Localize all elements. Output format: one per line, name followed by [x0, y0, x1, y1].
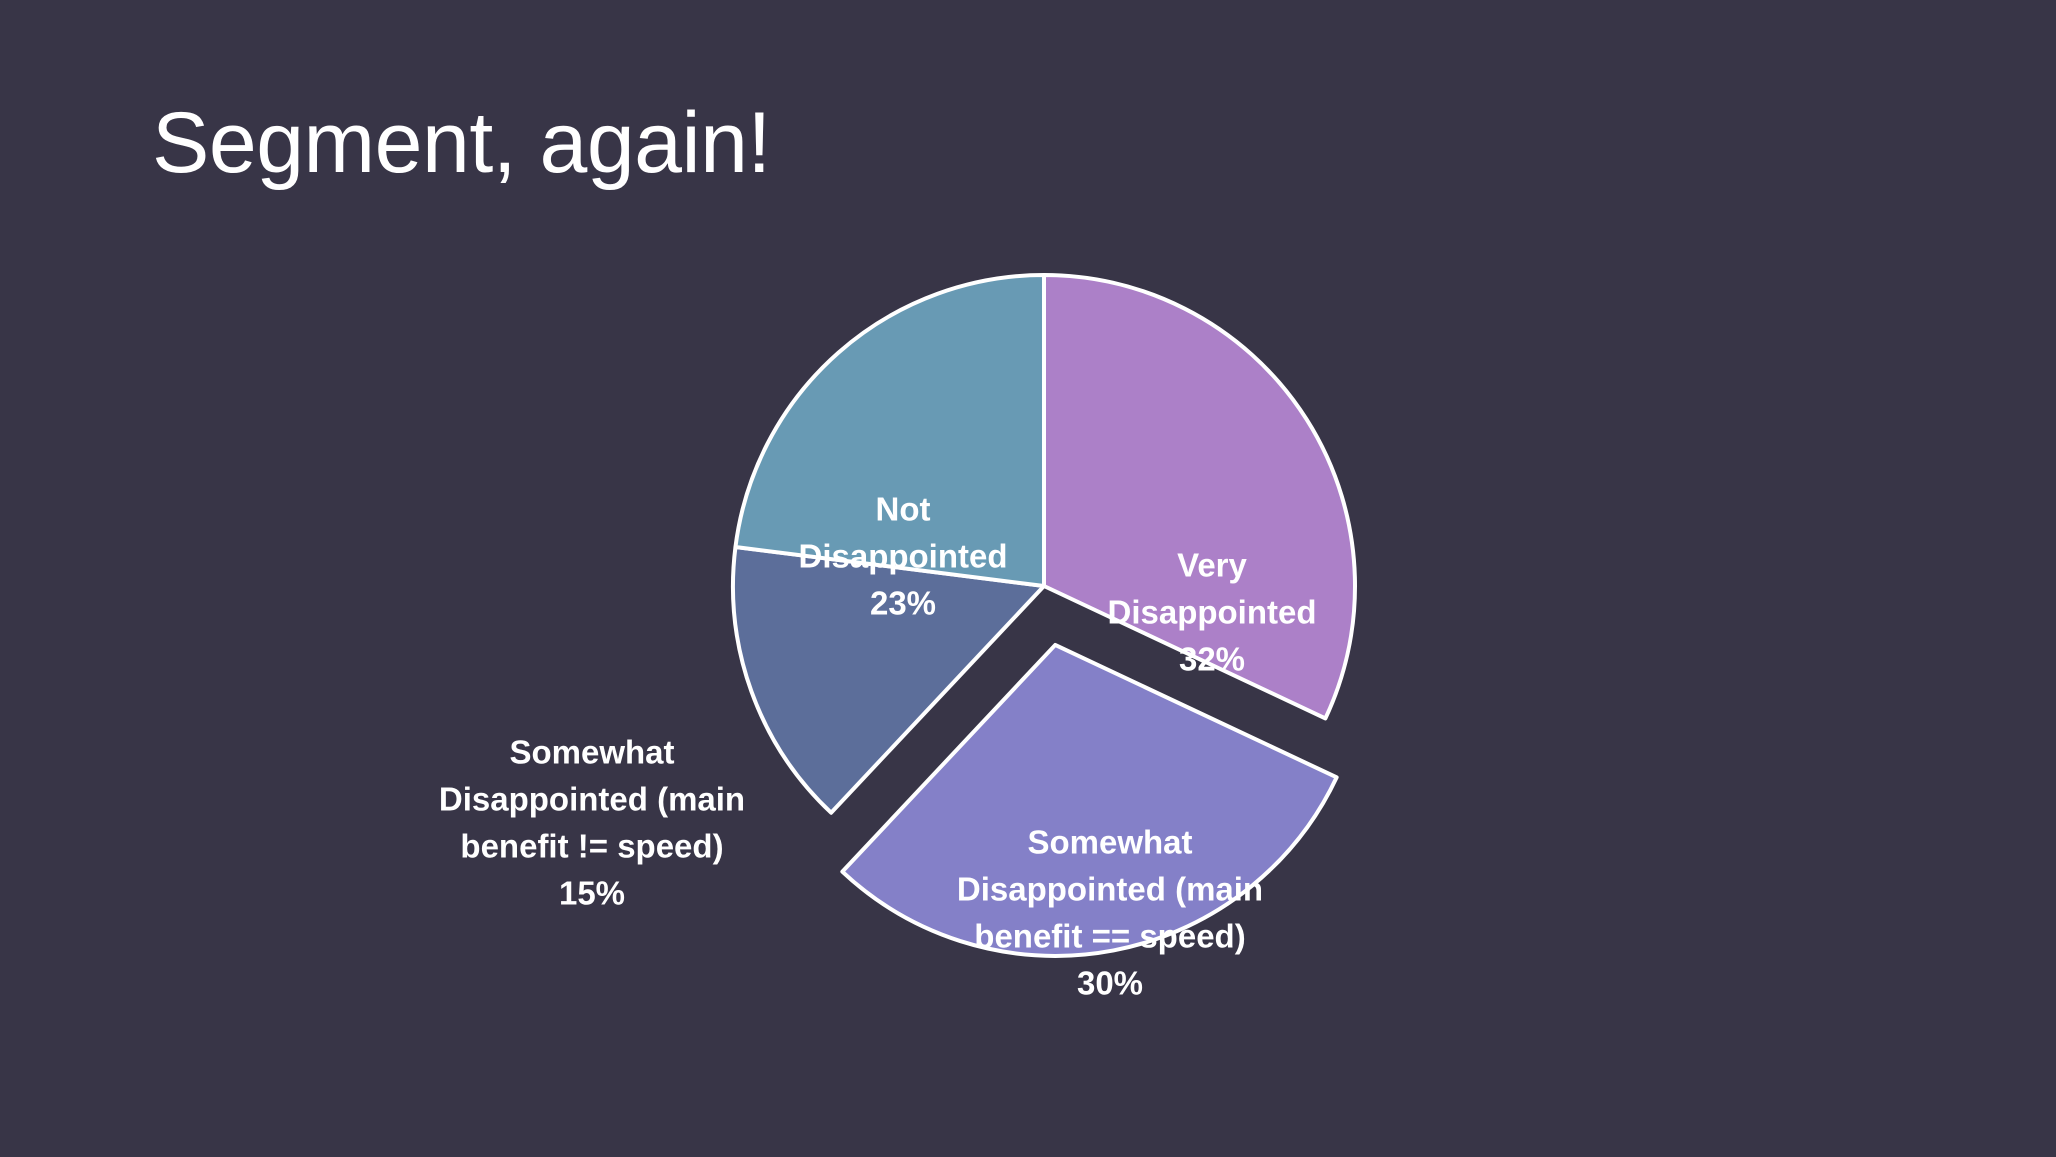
slice-label-line: Disappointed (main [957, 871, 1263, 908]
slice-label-line: Somewhat [1027, 824, 1192, 861]
pie-chart: Very Disappointed 32% Somewhat Disappoin… [0, 0, 2056, 1157]
slice-label-line: benefit == speed) [974, 918, 1245, 955]
slice-value-label: 32% [1179, 641, 1245, 678]
slice-value-label: 15% [559, 875, 625, 912]
slice-label-line: Disappointed [798, 538, 1007, 575]
slice-label-line: Disappointed (main [439, 781, 745, 818]
pie-chart-svg: Very Disappointed 32% Somewhat Disappoin… [0, 0, 2056, 1157]
slice-label-line: benefit != speed) [460, 828, 723, 865]
slice-value-label: 30% [1077, 965, 1143, 1002]
slice-label-line: Somewhat [509, 734, 674, 771]
slide-canvas: Segment, again! Very Disappointed 32% So… [0, 0, 2056, 1157]
slice-label-line: Not [876, 491, 931, 528]
slice-value-label: 23% [870, 585, 936, 622]
slice-label-line: Disappointed [1107, 594, 1316, 631]
slice-label-somewhat-disappointed-not-speed: Somewhat Disappointed (main benefit != s… [439, 734, 745, 912]
slice-label-line: Very [1177, 547, 1247, 584]
